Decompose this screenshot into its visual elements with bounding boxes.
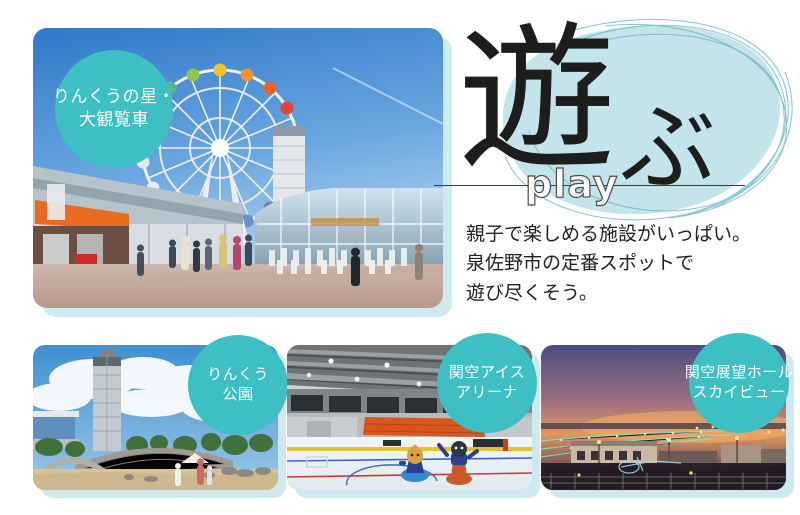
page-root: りんくうの星・ 大観覧車 遊 ぶ play 親子で楽しめる施設がいっぱい。 泉佐… [0, 0, 800, 515]
badge-line1: 関空展望ホール [685, 363, 794, 383]
thumbnail-badge-rinku-park: りんくう 公園 [188, 335, 288, 435]
thumbnail-card-ice-arena[interactable]: 関空アイス アリーナ [287, 345, 532, 490]
description-line-1: 親子で楽しめる施設がいっぱい。 [466, 220, 796, 249]
description-line-3: 遊び尽くそう。 [466, 279, 796, 308]
badge-line1: りんくう [207, 365, 269, 385]
badge-line1: 関空アイス [449, 363, 525, 383]
hero-photo-card[interactable]: りんくうの星・ 大観覧車 [33, 28, 443, 308]
thumbnail-badge-ice-arena: 関空アイス アリーナ [437, 333, 537, 433]
badge-line2: スカイビュー [692, 383, 785, 403]
description-text: 親子で楽しめる施設がいっぱい。 泉佐野市の定番スポットで 遊び尽くそう。 [466, 220, 796, 308]
badge-line2: 公園 [222, 385, 253, 405]
thumbnail-badge-observation-hall: 関空展望ホール スカイビュー [689, 333, 789, 433]
title-kanji: 遊 [458, 21, 616, 179]
description-line-2: 泉佐野市の定番スポットで [466, 249, 796, 278]
hero-photo-badge: りんくうの星・ 大観覧車 [55, 50, 173, 168]
title-romaji: play [525, 162, 618, 206]
badge-line2: アリーナ [456, 383, 518, 403]
thumbnail-card-rinku-park[interactable]: りんくう 公園 [33, 345, 278, 490]
thumbnail-card-observation-hall[interactable]: 関空展望ホール スカイビュー [541, 345, 786, 490]
title-kana: ぶ [620, 100, 716, 196]
title-block: 遊 ぶ play [440, 15, 795, 215]
hero-badge-line1: りんくうの星・ [53, 86, 175, 109]
hero-badge-line2: 大観覧車 [79, 109, 149, 132]
